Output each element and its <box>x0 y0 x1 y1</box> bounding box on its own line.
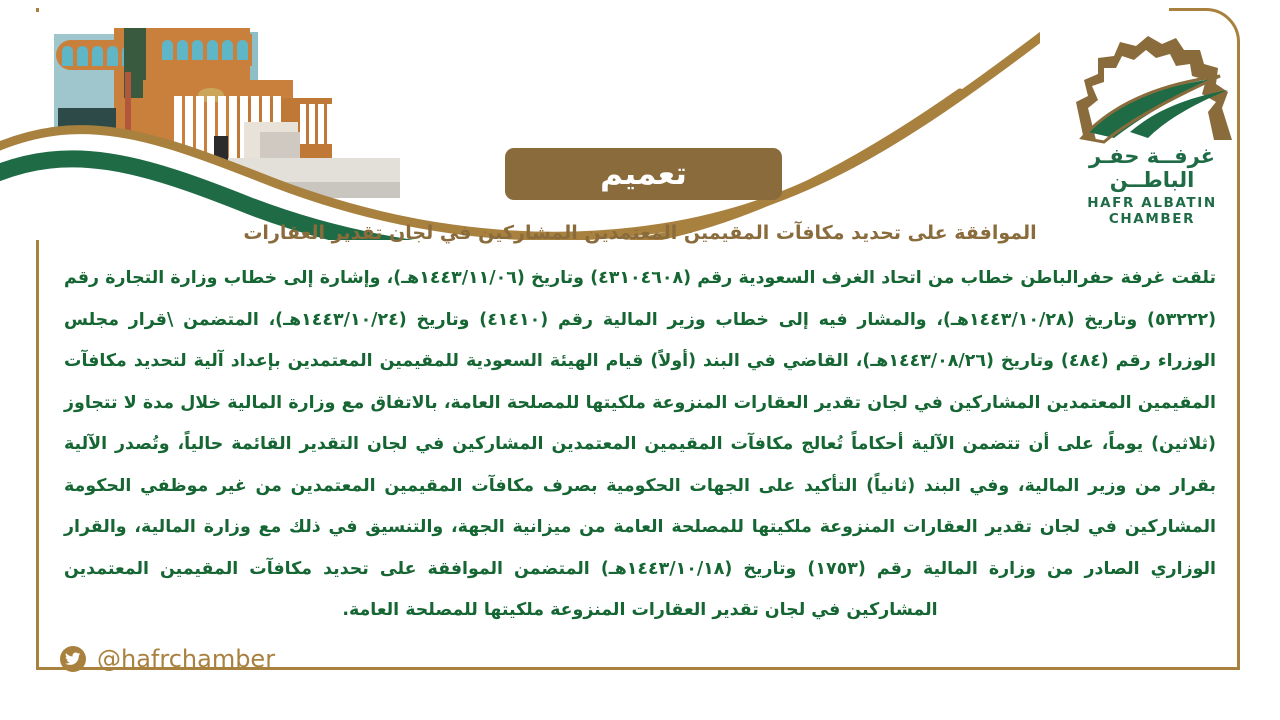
document-content: الموافقة على تحديد مكافآت المقيمين المعت… <box>60 222 1220 632</box>
header-artwork <box>0 0 1040 240</box>
page-title: الموافقة على تحديد مكافآت المقيمين المعت… <box>60 222 1220 244</box>
twitter-bird-icon[interactable] <box>60 646 86 672</box>
document-body-text: تلقت غرفة حفرالباطن خطاب من اتحاد الغرف … <box>60 258 1220 632</box>
arch-gear-with-green-dunes-icon <box>1052 28 1252 148</box>
wave-mask <box>0 0 1040 240</box>
logo-arabic-name: غرفــة حفـر الباطــن <box>1052 144 1252 192</box>
header-wave-decoration <box>0 0 1040 240</box>
chamber-logo: غرفــة حفـر الباطــن HAFR ALBATIN CHAMBE… <box>1052 28 1252 198</box>
circular-type-badge: تعميم <box>505 148 782 200</box>
badge-label: تعميم <box>600 156 687 192</box>
handle-text[interactable]: @hafrchamber <box>97 645 275 673</box>
logo-english-name: HAFR ALBATIN CHAMBER <box>1052 195 1252 227</box>
social-handle[interactable]: @hafrchamber <box>60 645 275 673</box>
document-page: تعميم غرفــة حفـر الباطــن HAFR ALBATIN … <box>0 0 1280 720</box>
